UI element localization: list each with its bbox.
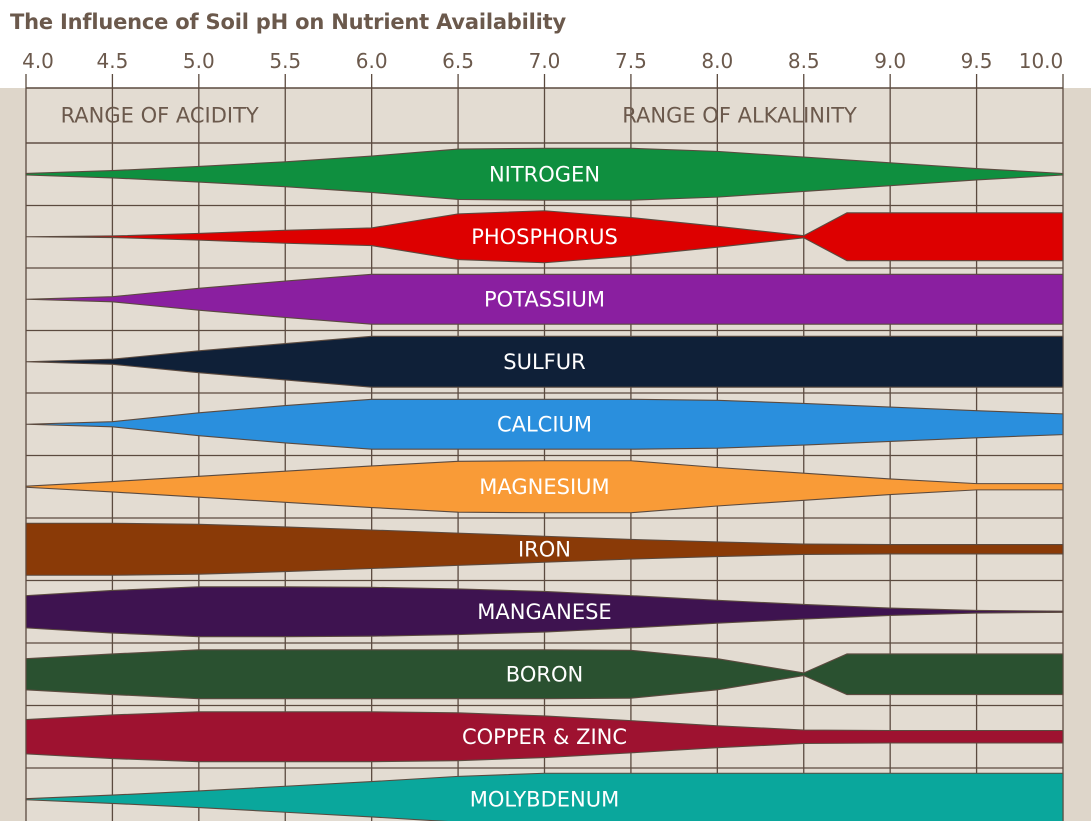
chart-root: The Influence of Soil pH on Nutrient Ava…: [0, 0, 1091, 821]
range-label-alkalinity: RANGE OF ALKALINITY: [622, 104, 857, 128]
band-label: CALCIUM: [497, 412, 592, 436]
band-label: MAGNESIUM: [479, 475, 609, 499]
range-label-acidity: RANGE OF ACIDITY: [61, 104, 259, 128]
band-label: BORON: [506, 662, 583, 686]
band-label: COPPER & ZINC: [462, 725, 627, 749]
band-label: POTASSIUM: [484, 287, 605, 311]
band-label: SULFUR: [503, 350, 585, 374]
band-label: MANGANESE: [477, 600, 611, 624]
band-label: IRON: [518, 537, 571, 561]
nutrient-band-boron[interactable]: BORON: [26, 650, 1063, 699]
nutrient-availability-chart: RANGE OF ACIDITYRANGE OF ALKALINITY NITR…: [0, 0, 1091, 821]
band-label: NITROGEN: [489, 162, 600, 186]
band-label: PHOSPHORUS: [471, 225, 618, 249]
band-label: MOLYBDENUM: [470, 787, 619, 811]
axis-tick-marks-layer: [26, 74, 1063, 88]
